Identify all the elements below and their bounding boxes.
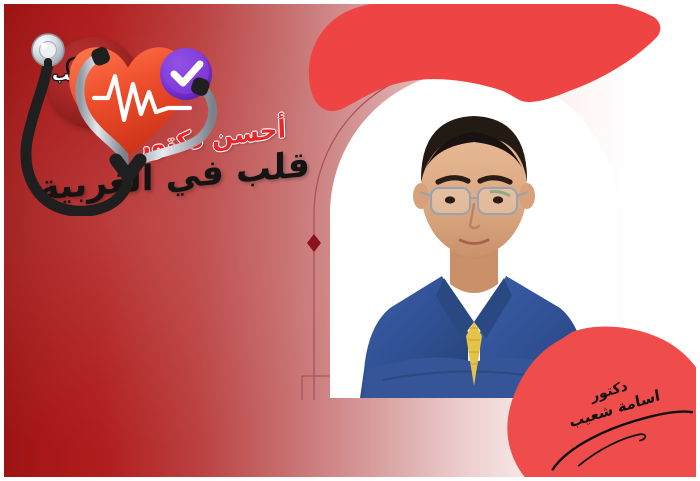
promo-banner: دار القلب أحسن دكتور قلب في الغربية xyxy=(0,0,700,481)
logo-dot xyxy=(91,92,100,101)
doctor-portrait-illustration xyxy=(330,70,618,398)
diamond-icon-left xyxy=(307,234,321,252)
headline-block: أحسن دكتور قلب في الغربية xyxy=(4,116,322,184)
portrait-frame xyxy=(300,38,652,400)
banner-inner-frame: دار القلب أحسن دكتور قلب في الغربية xyxy=(4,4,696,477)
doctor-photo xyxy=(330,70,618,398)
